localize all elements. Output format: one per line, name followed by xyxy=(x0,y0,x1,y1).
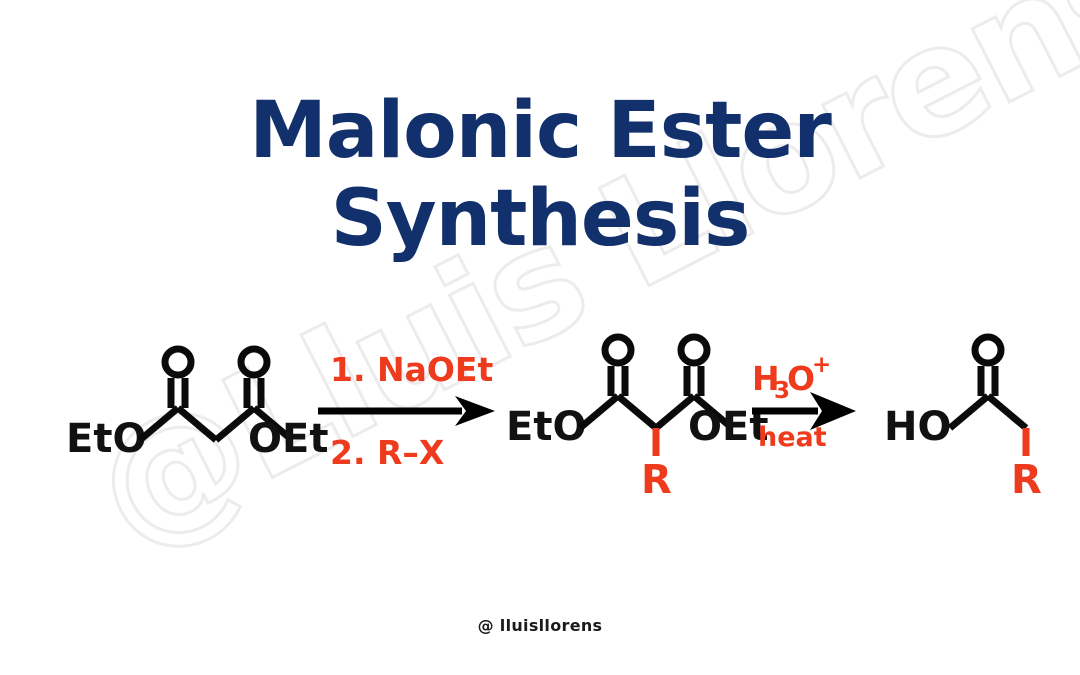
bond-c1-ch2 xyxy=(178,408,216,440)
atom-label-eto-left-2: EtO xyxy=(506,404,586,450)
molecule-alkylated-malonic-ester: EtO OEt R xyxy=(506,337,768,503)
slide-canvas: @Lluis Llorens Malonic Ester Synthesis E… xyxy=(0,0,1080,675)
carbonyl-oxygen-left-2 xyxy=(605,337,631,363)
reagent-below-arrow-2: heat xyxy=(758,422,827,453)
carbonyl-oxygen-right-2 xyxy=(681,337,707,363)
molecule-substituted-acetic-acid: HO R xyxy=(884,337,1042,503)
bond-ho-c1-3 xyxy=(950,396,988,428)
atom-label-oet-right: OEt xyxy=(248,416,328,462)
reagent-below-arrow-1: 2. R–X xyxy=(330,433,444,472)
footer-handle: @ lluisllorens xyxy=(0,616,1080,635)
reagent-charge-superscript: + xyxy=(812,352,831,378)
atom-label-r-substituent: R xyxy=(641,457,672,503)
reaction-scheme: EtO OEt xyxy=(0,0,1080,675)
bond-c1-ch2-3 xyxy=(988,396,1026,428)
carbonyl-oxygen-left xyxy=(165,349,191,375)
bond-c1-ch-2 xyxy=(618,396,656,428)
carbonyl-oxygen-right xyxy=(241,349,267,375)
reagent-o-main: O xyxy=(787,359,815,398)
atom-label-r-product: R xyxy=(1011,457,1042,503)
reagent-above-arrow-1: 1. NaOEt xyxy=(330,350,493,389)
reaction-arrow-1: 1. NaOEt 2. R–X xyxy=(318,350,495,472)
carbonyl-oxygen-3 xyxy=(975,337,1001,363)
atom-label-eto-left: EtO xyxy=(66,416,146,462)
atom-label-ho: HO xyxy=(884,404,951,450)
reaction-arrow-2: H 3 O + heat xyxy=(752,352,856,453)
molecule-diethyl-malonate: EtO OEt xyxy=(66,349,328,462)
